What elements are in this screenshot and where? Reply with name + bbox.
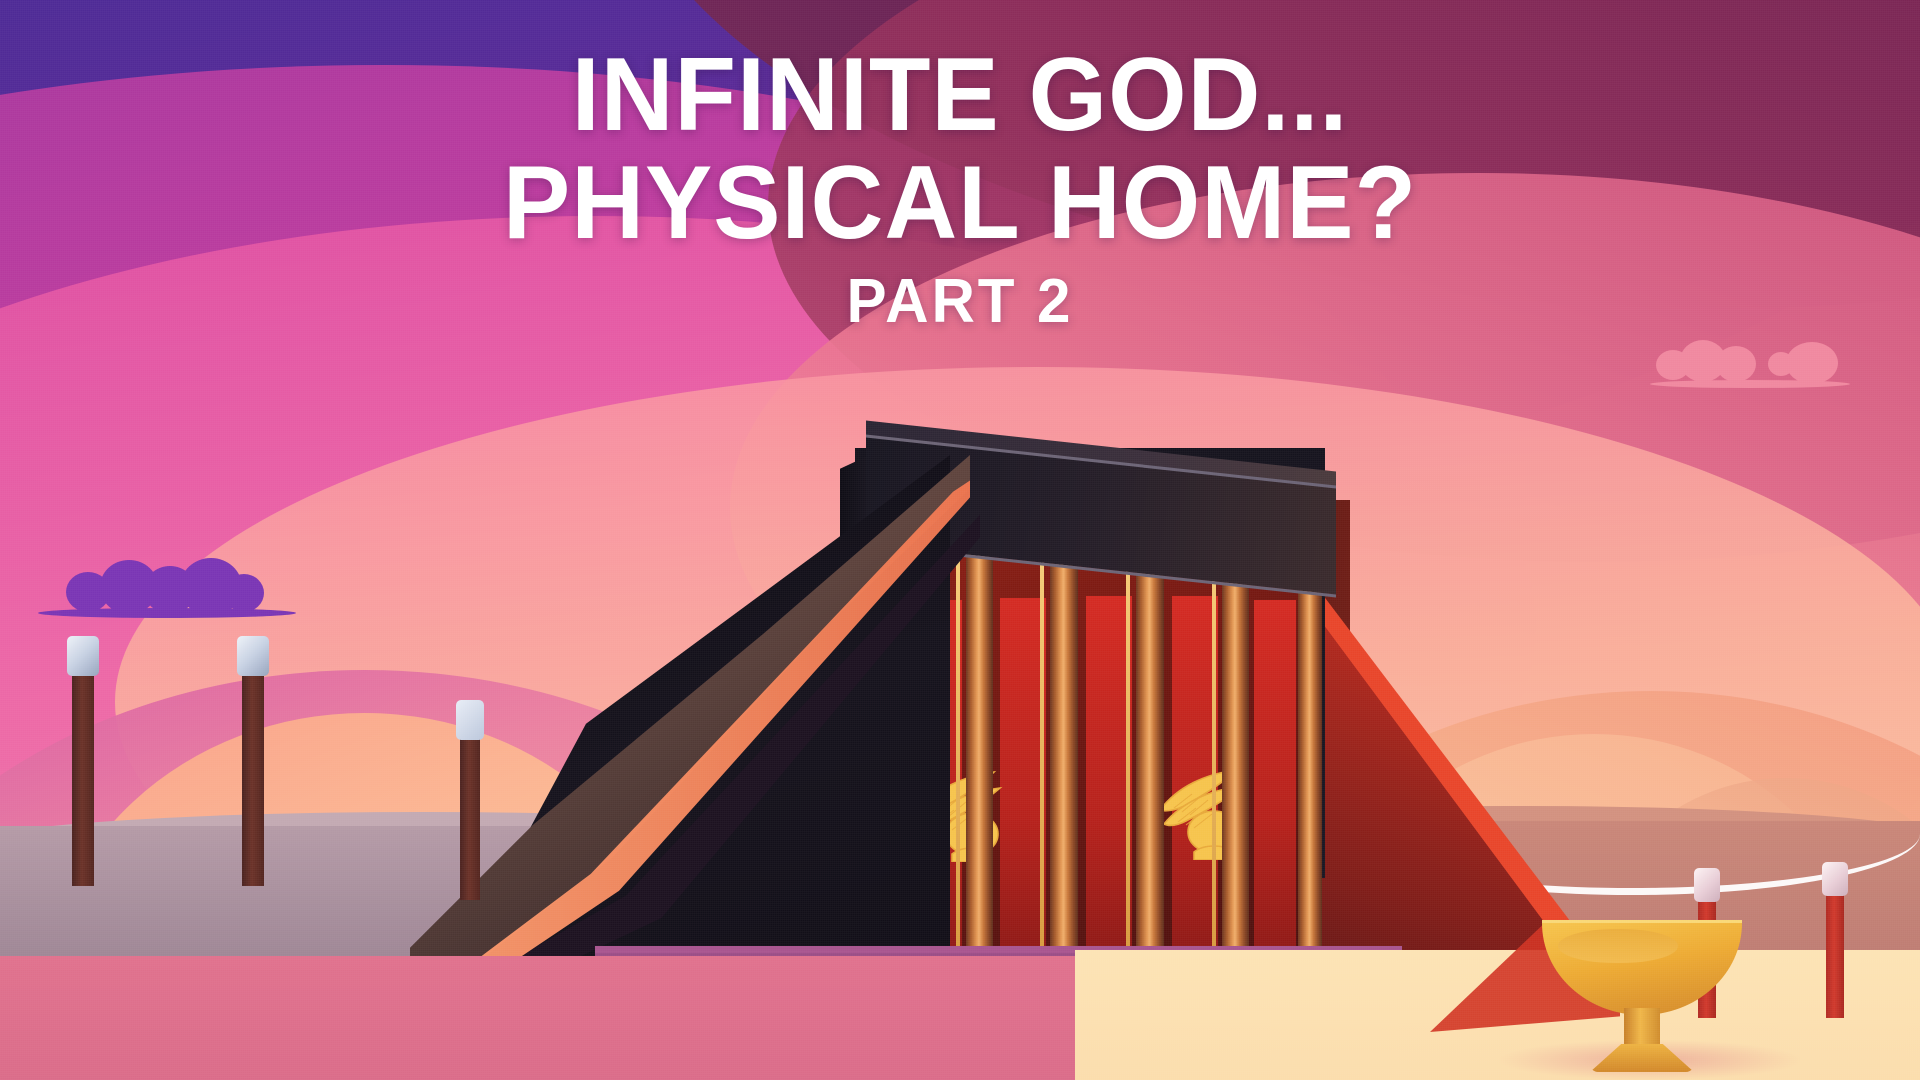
pillar-4 [1136,548,1164,960]
cherub-wing-glyph [1150,740,1290,860]
pillar-gold-rod [1212,550,1216,960]
pillar-gold-rod [1126,548,1130,960]
post-cap [1694,868,1720,902]
post-shaft [460,722,480,900]
post-cap [1822,862,1848,896]
pillar-column [966,552,993,957]
bronze-laver [1542,920,1742,1070]
pillar-column [1298,556,1322,960]
laver-bowl [1542,920,1742,1015]
foreground-sand-left [0,956,1152,1080]
pillar-3 [1050,549,1078,959]
post-cap [456,700,485,740]
pillar-gold-rod [956,552,960,957]
pillar-column [1050,549,1078,959]
courtyard-post-right-2 [1826,862,1844,1018]
courtyard-post-left-3 [460,700,480,900]
pillar-column [1222,550,1249,960]
title-card-canvas: INFINITE GOD... PHYSICAL HOME? PART 2 [0,0,1920,1080]
pillar-6 [1298,556,1322,960]
laver-foot [1590,1044,1694,1072]
pillar-gold-rod [1040,549,1044,959]
pillar-2 [966,552,993,957]
post-shaft [1826,884,1844,1018]
laver-stem [1624,1008,1660,1050]
pillar-5 [1222,550,1249,960]
tabernacle [0,0,1920,1080]
cherub-right-icon [1150,740,1290,860]
laver-inner-rim [1558,929,1678,963]
pillar-column [1136,548,1164,960]
